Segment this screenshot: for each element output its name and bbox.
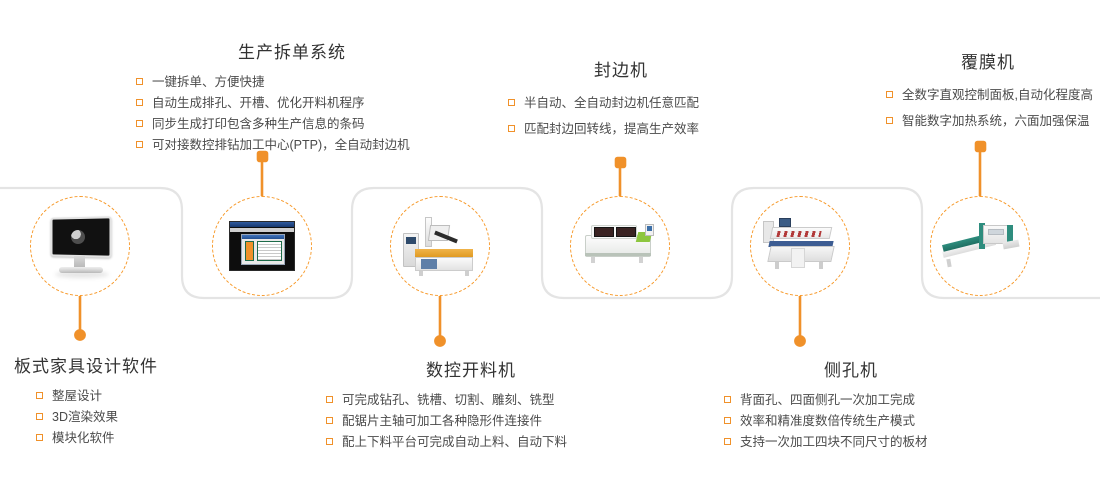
list-item: 匹配封边回转线，提高生产效率 — [508, 116, 740, 142]
section-order-splitting: 生产拆单系统 一键拆单、方便快捷 自动生成排孔、开槽、优化开料机程序 同步生成打… — [136, 38, 448, 156]
bullet-text: 模块化软件 — [52, 431, 115, 445]
list-item: 一键拆单、方便快捷 — [136, 72, 448, 93]
list-item: 可完成钻孔、铣槽、切割、雕刻、铣型 — [326, 390, 616, 411]
list-item: 智能数字加热系统，六面加强保温 — [886, 108, 1096, 134]
bullet-text: 一键拆单、方便快捷 — [152, 75, 265, 89]
bullet-text: 配上下料平台可完成自动上料、自动下料 — [342, 435, 567, 449]
bullet-square-icon — [136, 120, 143, 127]
section-side-driller: 侧孔机 背面孔、四面侧孔一次加工完成 效率和精准度数倍传统生产模式 支持一次加工… — [706, 356, 996, 453]
bullet-text: 全数字直观控制面板,自动化程度高 — [902, 88, 1093, 102]
section-title-edge-bander: 封边机 — [502, 56, 740, 81]
bullet-square-icon — [36, 434, 43, 441]
bullet-square-icon — [136, 78, 143, 85]
list-item: 配锯片主轴可加工各种隐形件连接件 — [326, 411, 616, 432]
bullet-square-icon — [508, 125, 515, 132]
bullet-text: 匹配封边回转线，提高生产效率 — [524, 122, 699, 136]
list-item: 支持一次加工四块不同尺寸的板材 — [724, 432, 996, 453]
section-bullets-cnc-cutting: 可完成钻孔、铣槽、切割、雕刻、铣型 配锯片主轴可加工各种隐形件连接件 配上下料平… — [326, 390, 616, 453]
list-item: 半自动、全自动封边机任意匹配 — [508, 90, 740, 116]
side-drilling-machine-icon — [761, 215, 839, 277]
bullet-square-icon — [724, 438, 731, 445]
bullet-text: 支持一次加工四块不同尺寸的板材 — [740, 435, 928, 449]
section-title-design-software: 板式家具设计软件 — [14, 352, 158, 377]
bullet-text: 配锯片主轴可加工各种隐形件连接件 — [342, 414, 542, 428]
connector-dot-side-driller — [795, 336, 804, 345]
bullet-text: 智能数字加热系统，六面加强保温 — [902, 114, 1090, 128]
bullet-text: 整屋设计 — [52, 389, 102, 403]
bullet-text: 可完成钻孔、铣槽、切割、雕刻、铣型 — [342, 393, 555, 407]
connector-dot-edge-bander — [616, 158, 625, 167]
imac-computer-icon — [41, 215, 119, 277]
bullet-square-icon — [136, 99, 143, 106]
bullet-square-icon — [36, 392, 43, 399]
section-bullets-design-software: 整屋设计 3D渲染效果 模块化软件 — [14, 386, 158, 449]
node-side-driller[interactable] — [750, 196, 850, 296]
section-title-laminating: 覆膜机 — [880, 48, 1096, 73]
bullet-text: 效率和精准度数倍传统生产模式 — [740, 414, 915, 428]
node-cnc-cutting[interactable] — [390, 196, 490, 296]
list-item: 可对接数控排钻加工中心(PTP)，全自动封边机 — [136, 135, 448, 156]
bullet-square-icon — [326, 396, 333, 403]
section-bullets-side-driller: 背面孔、四面侧孔一次加工完成 效率和精准度数倍传统生产模式 支持一次加工四块不同… — [706, 390, 996, 453]
connector-dot-laminating — [976, 142, 985, 151]
software-window-icon — [223, 215, 301, 277]
list-item: 自动生成排孔、开槽、优化开料机程序 — [136, 93, 448, 114]
list-item: 背面孔、四面侧孔一次加工完成 — [724, 390, 996, 411]
bullet-square-icon — [886, 117, 893, 124]
node-edge-bander[interactable] — [570, 196, 670, 296]
node-laminating[interactable] — [930, 196, 1030, 296]
bullet-text: 可对接数控排钻加工中心(PTP)，全自动封边机 — [152, 138, 410, 152]
list-item: 效率和精准度数倍传统生产模式 — [724, 411, 996, 432]
cnc-router-icon — [401, 215, 479, 277]
bullet-square-icon — [508, 99, 515, 106]
section-title-cnc-cutting: 数控开料机 — [326, 356, 616, 381]
section-bullets-edge-bander: 半自动、全自动封边机任意匹配 匹配封边回转线，提高生产效率 — [502, 90, 740, 142]
bullet-square-icon — [326, 438, 333, 445]
section-laminating: 覆膜机 全数字直观控制面板,自动化程度高 智能数字加热系统，六面加强保温 — [880, 48, 1096, 134]
bullet-square-icon — [136, 141, 143, 148]
connector-dot-design-software — [75, 330, 84, 339]
list-item: 配上下料平台可完成自动上料、自动下料 — [326, 432, 616, 453]
bullet-square-icon — [36, 413, 43, 420]
list-item: 同步生成打印包含多种生产信息的条码 — [136, 114, 448, 135]
bullet-text: 半自动、全自动封边机任意匹配 — [524, 96, 699, 110]
section-title-order-splitting: 生产拆单系统 — [136, 38, 448, 63]
list-item: 模块化软件 — [36, 428, 158, 449]
node-design-software[interactable] — [30, 196, 130, 296]
bullet-square-icon — [724, 396, 731, 403]
list-item: 全数字直观控制面板,自动化程度高 — [886, 82, 1096, 108]
laminating-machine-icon — [941, 215, 1019, 277]
section-edge-bander: 封边机 半自动、全自动封边机任意匹配 匹配封边回转线，提高生产效率 — [502, 56, 740, 142]
edge-bander-icon — [581, 215, 659, 277]
section-bullets-order-splitting: 一键拆单、方便快捷 自动生成排孔、开槽、优化开料机程序 同步生成打印包含多种生产… — [136, 72, 448, 156]
bullet-square-icon — [724, 417, 731, 424]
connector-dot-cnc-cutting — [435, 336, 444, 345]
section-title-side-driller: 侧孔机 — [706, 356, 996, 381]
bullet-text: 3D渲染效果 — [52, 410, 118, 424]
list-item: 整屋设计 — [36, 386, 158, 407]
bullet-square-icon — [326, 417, 333, 424]
section-design-software: 板式家具设计软件 整屋设计 3D渲染效果 模块化软件 — [14, 352, 158, 449]
infographic-canvas: 板式家具设计软件 整屋设计 3D渲染效果 模块化软件 生产拆单系统 一键拆单、方… — [0, 0, 1100, 495]
bullet-text: 同步生成打印包含多种生产信息的条码 — [152, 117, 365, 131]
section-bullets-laminating: 全数字直观控制面板,自动化程度高 智能数字加热系统，六面加强保温 — [880, 82, 1096, 134]
bullet-text: 自动生成排孔、开槽、优化开料机程序 — [152, 96, 365, 110]
node-order-splitting[interactable] — [212, 196, 312, 296]
bullet-square-icon — [886, 91, 893, 98]
bullet-text: 背面孔、四面侧孔一次加工完成 — [740, 393, 915, 407]
list-item: 3D渲染效果 — [36, 407, 158, 428]
section-cnc-cutting: 数控开料机 可完成钻孔、铣槽、切割、雕刻、铣型 配锯片主轴可加工各种隐形件连接件… — [326, 356, 616, 453]
